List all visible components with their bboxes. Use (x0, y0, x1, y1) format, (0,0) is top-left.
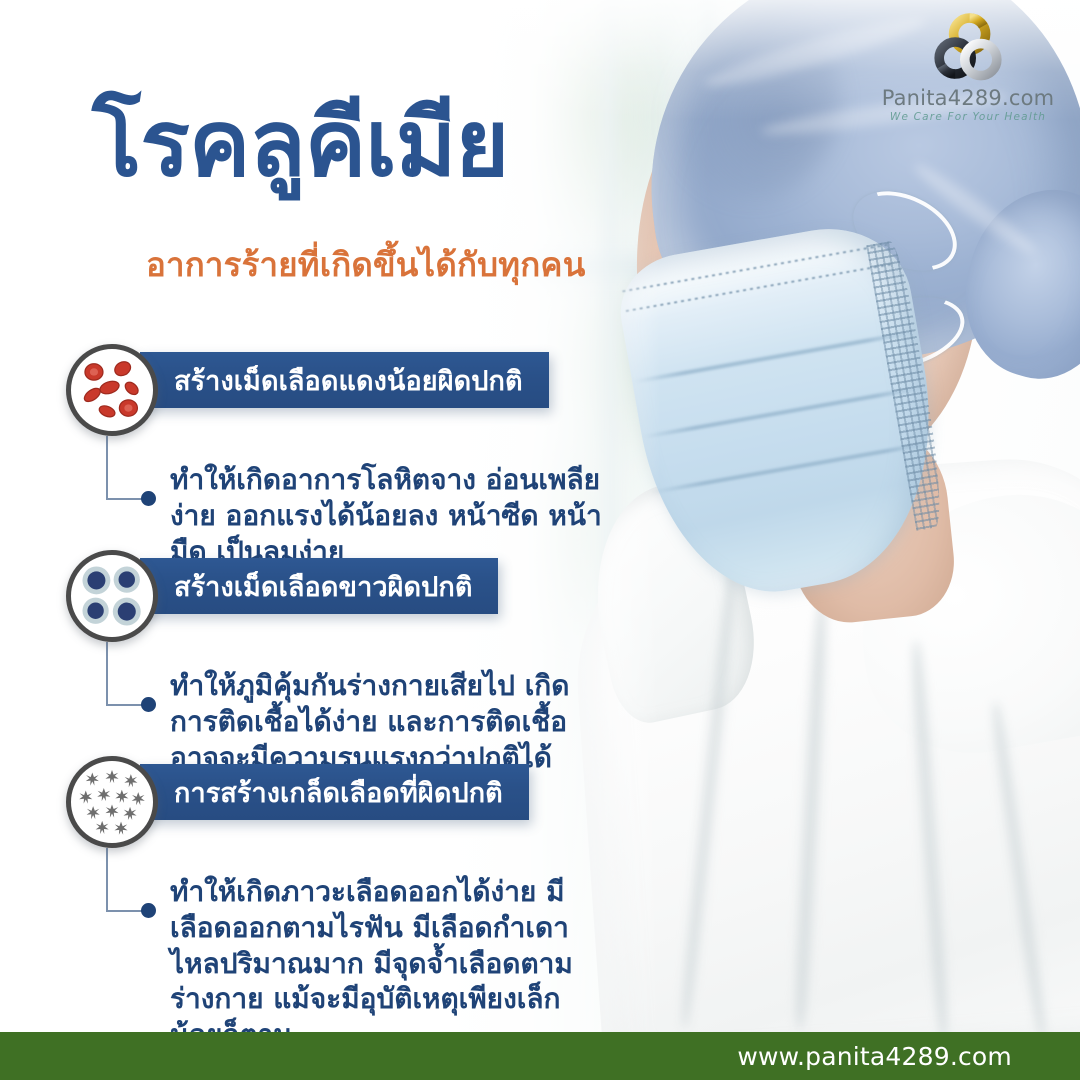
bullet-dot (141, 903, 156, 918)
brand-logo[interactable]: Panita4289.com We Care For Your Health (878, 10, 1058, 123)
white-blood-cells-icon (66, 550, 158, 642)
footer-bar: www.panita4289.com (0, 1032, 1080, 1080)
platelets-icon (66, 756, 158, 848)
bullet-dot (141, 697, 156, 712)
section-banner-label: สร้างเม็ดเลือดขาวผิดปกติ (174, 565, 472, 608)
red-blood-cells-glyph (71, 349, 153, 431)
page-subtitle: อาการร้ายที่เกิดขึ้นได้กับทุกคน (146, 238, 585, 291)
section-banner: สร้างเม็ดเลือดขาวผิดปกติ (140, 558, 498, 614)
section-body-text: ทำให้ภูมิคุ้มกันร่างกายเสียไป เกิดการติด… (170, 668, 610, 775)
head-scarf-shadow (660, 0, 840, 200)
mask-seam (626, 263, 895, 312)
platelets-glyph (71, 761, 153, 843)
mask-pleat (651, 440, 937, 494)
mask-pleat (632, 330, 918, 384)
content-column: โรคลูคีเมีย อาการร้ายที่เกิดขึ้นได้กับทุ… (0, 0, 620, 1035)
red-blood-cells-icon (66, 344, 158, 436)
logo-name: Panita4289.com (878, 86, 1058, 110)
footer-website-url[interactable]: www.panita4289.com (737, 1042, 1012, 1071)
section-banner-label: สร้างเม็ดเลือดแดงน้อยผิดปกติ (174, 359, 523, 402)
section-banner: การสร้างเกล็ดเลือดที่ผิดปกติ (140, 764, 529, 820)
bullet-dot (141, 491, 156, 506)
connector-line (106, 848, 148, 912)
section-body-text: ทำให้เกิดอาการโลหิตจาง อ่อนเพลียง่าย ออก… (170, 462, 610, 569)
interlocking-rings-logo-icon (928, 10, 1008, 90)
section-body-text: ทำให้เกิดภาวะเลือดออกได้ง่าย มีเลือดออกต… (170, 874, 610, 1053)
section-banner: สร้างเม็ดเลือดแดงน้อยผิดปกติ (140, 352, 549, 408)
section-banner-label: การสร้างเกล็ดเลือดที่ผิดปกติ (174, 771, 503, 814)
page-title: โรคลูคีเมีย (92, 96, 508, 192)
connector-line (106, 642, 148, 706)
connector-line (106, 436, 148, 500)
mask-pleat (642, 385, 928, 439)
logo-tagline: We Care For Your Health (878, 111, 1058, 123)
infographic-poster: Panita4289.com We Care For Your Health โ… (0, 0, 1080, 1080)
white-blood-cells-glyph (71, 555, 153, 637)
